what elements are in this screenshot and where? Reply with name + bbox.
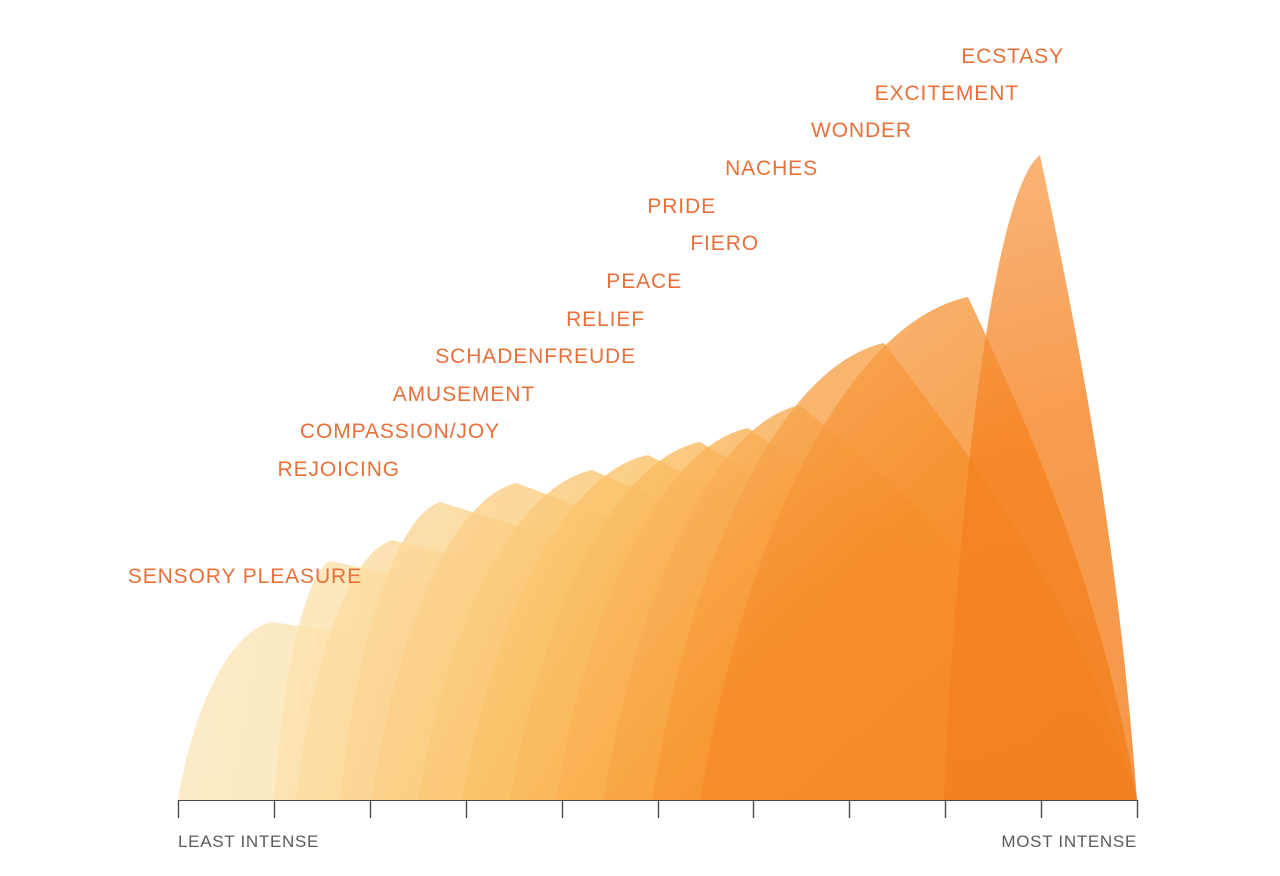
petal-area-plot [0,0,1280,876]
emotion-label-relief[interactable]: RELIEF [566,308,645,332]
emotion-label-rejoicing[interactable]: REJOICING [278,458,400,482]
axis-caption-least-intense: LEAST INTENSE [178,832,319,852]
emotion-label-amusement[interactable]: AMUSEMENT [393,383,535,407]
emotion-label-pride[interactable]: PRIDE [647,195,716,219]
emotion-label-wonder[interactable]: WONDER [811,119,912,143]
axis-group [178,800,1138,818]
emotion-label-compassion-joy[interactable]: COMPASSION/JOY [300,420,500,444]
axis-caption-most-intense: MOST INTENSE [1001,832,1137,852]
emotion-intensity-chart: ECSTASYEXCITEMENTWONDERNACHESPRIDEFIEROP… [0,0,1280,876]
emotion-label-excitement[interactable]: EXCITEMENT [875,82,1019,106]
petal-ecstasy[interactable] [944,155,1137,800]
emotion-label-schadenfreude[interactable]: SCHADENFREUDE [435,345,636,369]
emotion-label-sensory-pleasure[interactable]: SENSORY PLEASURE [128,565,362,589]
emotion-label-peace[interactable]: PEACE [606,270,682,294]
emotion-label-fiero[interactable]: FIERO [690,232,759,256]
emotion-label-ecstasy[interactable]: ECSTASY [961,45,1064,69]
emotion-label-naches[interactable]: NACHES [725,157,818,181]
